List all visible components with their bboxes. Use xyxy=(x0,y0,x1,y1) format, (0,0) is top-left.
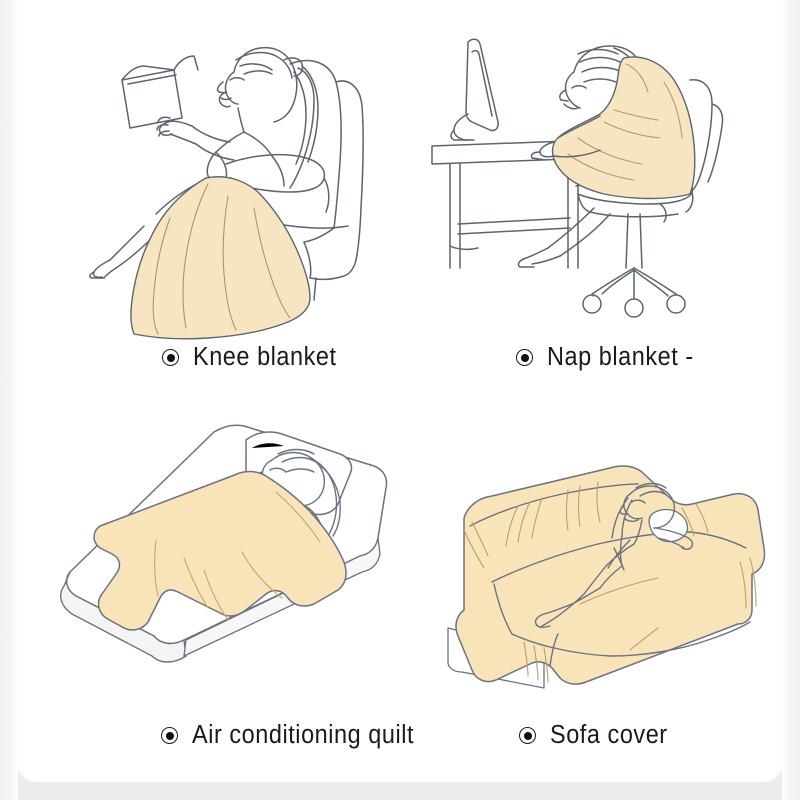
radio-bullet-icon xyxy=(519,727,536,744)
left-edge-shadow xyxy=(0,0,18,800)
air-conditioning-quilt-illustration xyxy=(56,418,426,718)
radio-bullet-icon xyxy=(162,349,179,366)
scenario-label-nap-blanket: Nap blanket - xyxy=(547,345,694,371)
scenario-air-conditioning-quilt xyxy=(56,418,426,718)
radio-bullet-icon xyxy=(516,349,533,366)
scenario-sofa-cover xyxy=(434,452,779,717)
knee-blanket-illustration xyxy=(58,12,388,342)
scenario-knee-blanket xyxy=(58,12,388,342)
caption-air-conditioning-quilt: Air conditioning quilt xyxy=(161,723,433,749)
scenario-nap-blanket xyxy=(428,18,748,338)
caption-sofa-cover: Sofa cover xyxy=(519,723,678,749)
infographic-card: Knee blanket xyxy=(16,0,784,782)
nap-blanket-illustration xyxy=(428,18,748,338)
usage-scenario-grid: Knee blanket xyxy=(16,0,784,782)
caption-knee-blanket: Knee blanket xyxy=(162,345,349,371)
scenario-label-sofa-cover: Sofa cover xyxy=(550,723,668,749)
caption-nap-blanket: Nap blanket - xyxy=(516,345,706,371)
sofa-cover-illustration xyxy=(434,452,779,717)
scenario-label-air-conditioning-quilt: Air conditioning quilt xyxy=(192,723,414,749)
scenario-label-knee-blanket: Knee blanket xyxy=(193,345,337,371)
radio-bullet-icon xyxy=(161,727,178,744)
right-edge-shadow xyxy=(782,0,800,800)
